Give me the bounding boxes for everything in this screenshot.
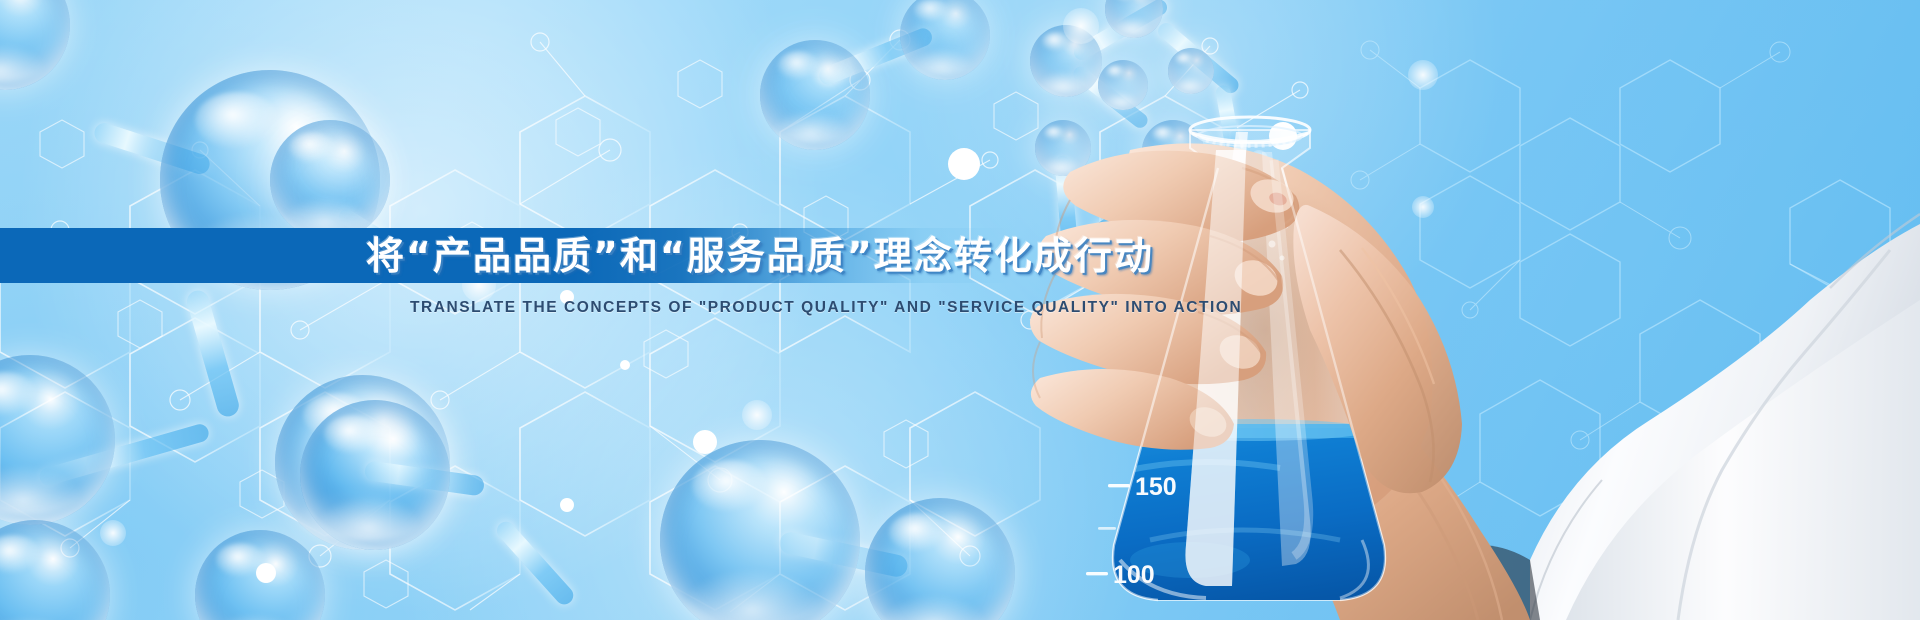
bokeh-dot [256, 563, 276, 583]
molecule-sphere [0, 0, 70, 90]
bokeh-dot [742, 400, 772, 430]
molecule-sphere [0, 355, 115, 525]
flask-droplets [1238, 192, 1289, 281]
molecule-sphere [1105, 0, 1163, 38]
flask-graduation-150: 150 [1135, 473, 1177, 501]
molecule-sphere [760, 40, 870, 150]
lab-coat-sleeve [1530, 214, 1920, 620]
flask-graduations: 250 APPROX 7-80 200 150 [1086, 287, 1214, 589]
molecule-bond [493, 518, 577, 608]
molecule-bond [1155, 20, 1242, 97]
fingers [1030, 151, 1462, 494]
bokeh-dot [620, 360, 630, 370]
flask-graduation-200: 200 [1157, 384, 1199, 412]
banner-text-block: 将“产品品质”和“服务品质”理念转化成行动 TRANSLATE THE CONC… [0, 228, 1100, 317]
molecule-bond [1070, 64, 1150, 131]
molecule-bond [817, 26, 935, 88]
molecule-sphere [1168, 48, 1214, 94]
svg-text:7-80: 7-80 [1142, 371, 1167, 387]
bokeh-dot [693, 430, 717, 454]
hero-banner: 250 APPROX 7-80 200 150 [0, 0, 1920, 620]
bokeh-dot [1200, 175, 1222, 197]
bokeh-dot [1412, 196, 1434, 218]
bokeh-dot [1285, 345, 1303, 363]
bokeh-dot [1269, 122, 1297, 150]
molecule-bond [38, 422, 211, 488]
flask-front-edge [1113, 150, 1385, 600]
page-subtitle: TRANSLATE THE CONCEPTS OF "PRODUCT QUALI… [0, 283, 1100, 317]
molecule-bond [92, 120, 212, 176]
bokeh-dot [1250, 150, 1268, 168]
bokeh-dot [1222, 250, 1234, 262]
molecule-sphere [865, 498, 1015, 620]
flask-glass-highlight [1120, 132, 1368, 598]
bokeh-dot [948, 148, 980, 180]
molecule-sphere [300, 400, 450, 550]
molecule-sphere [660, 440, 860, 620]
bokeh-dot [560, 498, 574, 512]
molecule-bond [778, 530, 910, 579]
erlenmeyer-flask: 250 APPROX 7-80 200 150 [1080, 117, 1420, 620]
bokeh-dot [1408, 60, 1438, 90]
molecule-sphere [1142, 120, 1204, 182]
molecule-sphere [900, 0, 990, 80]
molecule-sphere [1035, 120, 1091, 176]
molecule-bond [1092, 171, 1190, 240]
headline-bar: 将“产品品质”和“服务品质”理念转化成行动 [0, 228, 1100, 283]
molecule-sphere [270, 120, 390, 240]
forearm [1210, 300, 1530, 620]
bokeh-dot [1063, 8, 1099, 44]
molecule-bond [364, 460, 486, 497]
molecule-sphere [275, 375, 450, 550]
palm [1110, 143, 1433, 530]
molecule-sphere [0, 520, 110, 620]
page-title: 将“产品品质”和“服务品质”理念转化成行动 [0, 237, 1154, 275]
bokeh-dot [100, 520, 126, 546]
molecule-sphere [1098, 60, 1148, 110]
molecule-bond [1215, 84, 1245, 175]
flask-approx-label: APPROX [1146, 322, 1203, 337]
flask-graduation-100: 100 [1113, 561, 1155, 589]
